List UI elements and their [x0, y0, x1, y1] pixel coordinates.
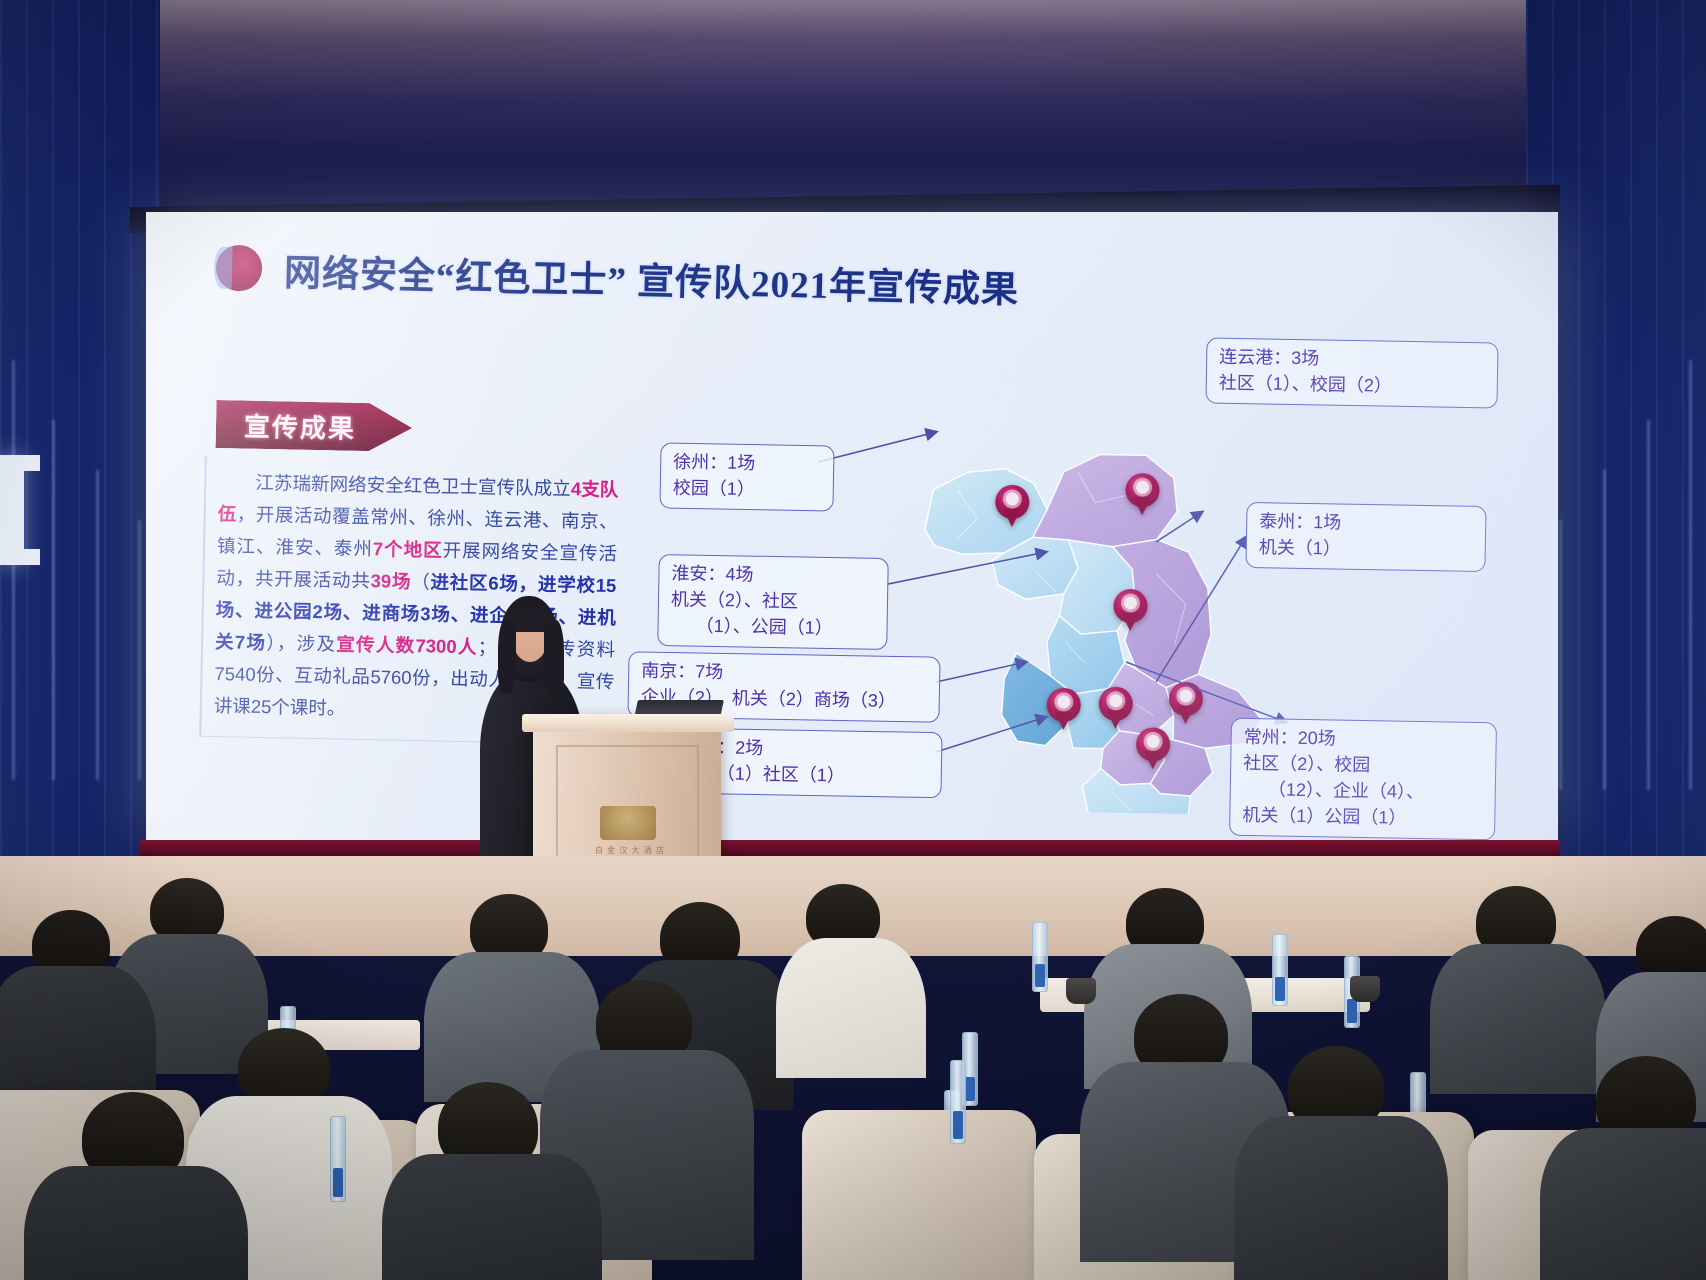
attendee-torso: [24, 1166, 248, 1280]
map-pin-nanjing[interactable]: [1046, 688, 1081, 735]
speaker-hair-right: [544, 620, 564, 700]
callout-line-1: 泰州：1场: [1259, 511, 1341, 532]
projection-screen: 网络安全“红色卫士” 宣传队2021年宣传成果 宣传成果 江苏瑞新网络安全红色卫…: [146, 212, 1558, 840]
pin-body: [995, 485, 1030, 520]
callout-line-2: 机关（1）: [1259, 534, 1473, 564]
podium-top-surface: [522, 714, 734, 732]
callout-huaian[interactable]: 淮安：4场 机关（2）、社区 （1）、公园（1）: [657, 554, 889, 650]
audience-chair: [802, 1110, 1036, 1280]
pin-body: [1125, 473, 1160, 508]
pin-dot: [1006, 492, 1019, 505]
wall-light-streak: [52, 420, 55, 780]
left-wall-panel: [0, 0, 160, 880]
callout-line-3: （1）、公园（1）: [670, 612, 874, 642]
slide-title-row: 网络安全“红色卫士” 宣传队2021年宣传成果: [215, 241, 1019, 314]
callout-zhenjiang[interactable]: 江：2场 关（1）社区（1）: [685, 728, 942, 798]
bullet-circle-icon: [216, 245, 263, 292]
callout-line-1: 淮安：4场: [671, 563, 753, 584]
callout-line-4: 机关（1）公园（1）: [1242, 802, 1482, 832]
wall-light-streak: [1559, 520, 1562, 790]
wall-light-streak: [1603, 470, 1606, 790]
tea-cup: [1350, 976, 1380, 1002]
callout-line-2: 社区（1）、校园（2）: [1219, 370, 1485, 401]
callout-lianyungang[interactable]: 连云港：3场 社区（1）、校园（2）: [1205, 337, 1498, 408]
ceiling-soffit: [0, 0, 1706, 210]
map-pin-lianyungang[interactable]: [1125, 473, 1160, 520]
callout-line-1: 南京：7场: [641, 661, 723, 682]
callout-xuzhou[interactable]: 徐州：1场 校园（1）: [659, 442, 834, 511]
pin-dot: [1057, 695, 1070, 708]
wall-light-streak: [12, 360, 15, 780]
callout-line-2: 关（1）社区（1）: [699, 760, 929, 790]
attendee-torso: [382, 1154, 602, 1280]
body-segment-8: ），涉及: [266, 632, 336, 654]
body-segment-0: 江苏瑞新网络安全红色卫士宣传队成立: [255, 472, 571, 499]
tea-cup: [1066, 978, 1096, 1004]
callout-line-2: 校园（1）: [673, 475, 821, 504]
callout-line-1: 常州：20场: [1244, 727, 1336, 749]
wall-letter-glyph: [0, 455, 24, 565]
callout-line-2: 机关（2）、社区: [671, 586, 875, 616]
attendee-torso: [1540, 1128, 1706, 1280]
attendee-torso: [776, 938, 926, 1078]
wall-light-streak: [138, 520, 141, 780]
body-segment-6: （: [411, 571, 431, 592]
map-pin-taizhou[interactable]: [1168, 682, 1203, 729]
callout-line-1: 连云港：3场: [1219, 347, 1319, 369]
callout-line-1: 徐州：1场: [673, 452, 755, 473]
attendee-torso: [1234, 1116, 1448, 1280]
callout-taizhou[interactable]: 泰州：1场 机关（1）: [1245, 502, 1486, 572]
body-segment-3: 7个地区: [373, 538, 443, 560]
map-pin-zhenjiang[interactable]: [1098, 687, 1133, 734]
pin-dot: [1109, 694, 1122, 707]
pin-dot: [1136, 481, 1149, 494]
callout-changzhou[interactable]: 常州：20场 社区（2）、校园 （12）、企业（4）、 机关（1）公园（1）: [1229, 718, 1497, 840]
pin-dot: [1147, 735, 1160, 748]
map-pin-huaian[interactable]: [1113, 589, 1148, 636]
pin-dot: [1124, 596, 1137, 609]
screen-bottom-trim: [140, 840, 1560, 856]
map-pin-changzhou[interactable]: [1136, 727, 1171, 774]
pin-dot: [1179, 689, 1192, 702]
pin-body: [1136, 727, 1171, 762]
pin-body: [1169, 682, 1204, 717]
attendee-torso: [1430, 944, 1606, 1094]
wall-light-streak: [96, 470, 99, 780]
water-bottle: [950, 1060, 966, 1144]
speaker-hair-left: [498, 620, 516, 694]
section-banner: 宣传成果: [216, 400, 413, 452]
body-segment-5: 39场: [370, 570, 411, 592]
wall-light-streak: [1689, 360, 1692, 790]
section-banner-label: 宣传成果: [216, 405, 357, 445]
page-title: 网络安全“红色卫士” 宣传队2021年宣传成果: [283, 242, 1019, 313]
water-bottle: [330, 1116, 346, 1202]
conference-hall-scene: 网络安全“红色卫士” 宣传队2021年宣传成果 宣传成果 江苏瑞新网络安全红色卫…: [0, 0, 1706, 1280]
pin-body: [1113, 589, 1148, 624]
pin-body: [1046, 688, 1081, 723]
hotel-emblem-icon: [600, 806, 656, 840]
water-bottle: [1272, 934, 1288, 1006]
audience-area: [0, 860, 1706, 1280]
body-segment-9: 宣传人数7300人: [336, 633, 478, 657]
pin-body: [1098, 687, 1133, 722]
wall-light-streak: [1647, 420, 1650, 790]
map-pin-xuzhou[interactable]: [995, 485, 1030, 532]
hotel-emblem-label: 白 金 汉 大 酒 店: [580, 845, 680, 856]
water-bottle: [1032, 922, 1048, 992]
